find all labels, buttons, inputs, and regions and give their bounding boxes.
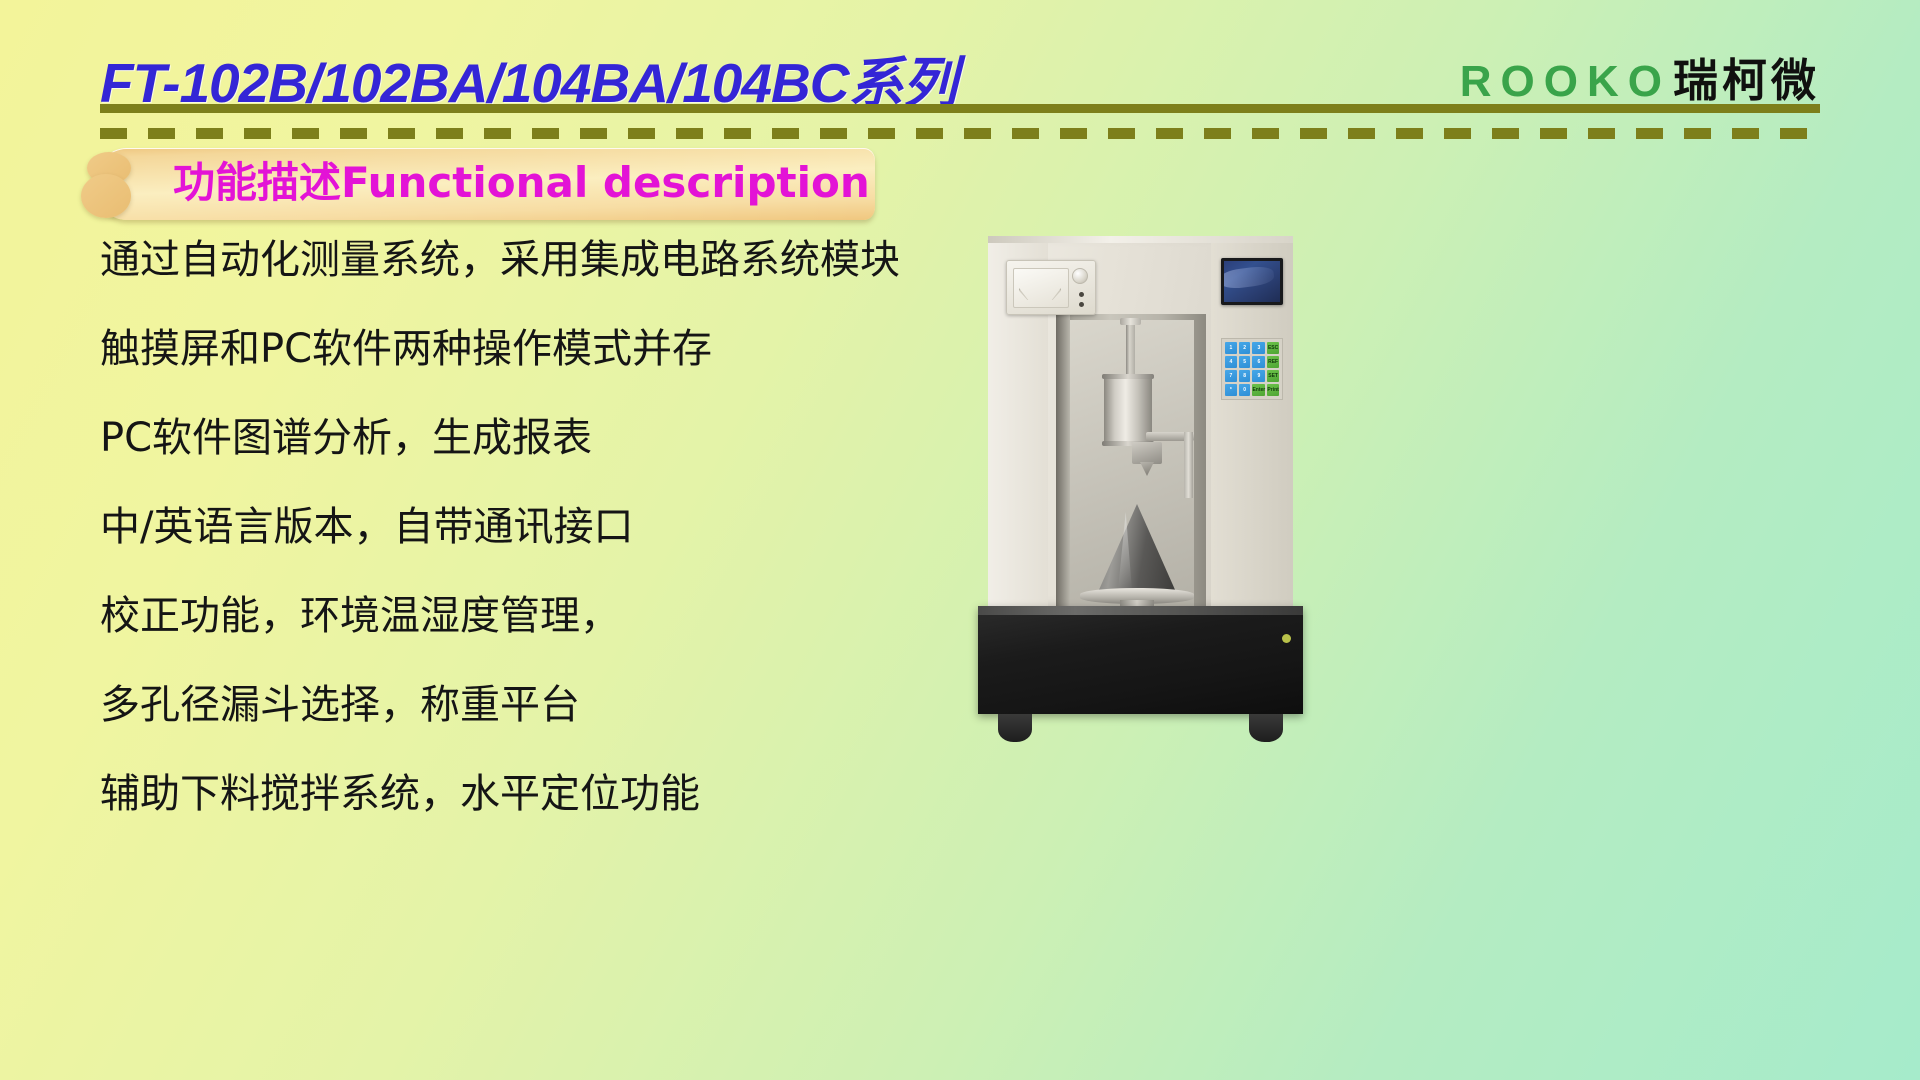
- feature-line: PC软件图谱分析，生成报表: [100, 418, 1000, 458]
- slide-header: FT-102B/102BA/104BA/104BC系列 ROOKO 瑞柯微: [0, 0, 1920, 168]
- cabinet-top-edge: [988, 236, 1293, 243]
- keypad-key-5[interactable]: 5: [1239, 356, 1251, 368]
- feature-line: 多孔径漏斗选择，称重平台: [100, 685, 1000, 725]
- keypad-key-4[interactable]: 4: [1225, 356, 1237, 368]
- funnel-nozzle: [1132, 442, 1162, 464]
- keypad-key-print[interactable]: Print: [1267, 384, 1279, 396]
- section-badge: 功能描述Functional description: [95, 148, 875, 220]
- printer-module: [1006, 260, 1096, 315]
- header-dashed-rule: [100, 128, 1820, 139]
- brand-latin-text: ROOKO: [1460, 57, 1671, 107]
- machine-base: [978, 606, 1303, 714]
- shaft-cap: [1120, 318, 1141, 325]
- printer-knob-icon: [1072, 268, 1088, 284]
- machine-foot: [998, 714, 1032, 742]
- keypad-key-ref[interactable]: REF: [1267, 356, 1279, 368]
- brand-logo: ROOKO 瑞柯微: [1460, 44, 1820, 109]
- machine-base-top: [978, 606, 1303, 615]
- keypad-key-enter[interactable]: Enter: [1252, 384, 1265, 396]
- feature-line: 触摸屏和PC软件两种操作模式并存: [100, 329, 1000, 369]
- keypad-key-0[interactable]: 0: [1239, 384, 1251, 396]
- feature-line: 校正功能，环境温湿度管理，: [100, 596, 1000, 636]
- product-photo: 123ESC456REF789SET*0EnterPrint: [968, 236, 1313, 756]
- keypad-key-8[interactable]: 8: [1239, 370, 1251, 382]
- vertical-shaft: [1126, 320, 1135, 380]
- feature-line: 中/英语言版本，自带通讯接口: [100, 507, 1000, 547]
- lcd-screen: [1224, 261, 1280, 302]
- badge-lobe-bottom-icon: [81, 174, 131, 218]
- keypad-key-esc[interactable]: ESC: [1267, 342, 1279, 354]
- keypad-key-*[interactable]: *: [1225, 384, 1237, 396]
- cabinet-recess-shadow: [1056, 314, 1070, 606]
- keypad-key-9[interactable]: 9: [1252, 370, 1265, 382]
- support-arm-vertical: [1184, 432, 1193, 498]
- lcd-display: [1221, 258, 1283, 305]
- keypad-key-set[interactable]: SET: [1267, 370, 1279, 382]
- lcd-glare: [1224, 265, 1274, 290]
- motor-ring: [1102, 374, 1154, 379]
- feature-line: 通过自动化测量系统，采用集成电路系统模块: [100, 240, 1000, 280]
- control-keypad[interactable]: 123ESC456REF789SET*0EnterPrint: [1221, 338, 1283, 400]
- keypad-key-1[interactable]: 1: [1225, 342, 1237, 354]
- section-badge-label: 功能描述Functional description: [173, 148, 870, 220]
- header-solid-rule: [100, 104, 1820, 113]
- feature-list: 通过自动化测量系统，采用集成电路系统模块 触摸屏和PC软件两种操作模式并存 PC…: [100, 240, 1000, 863]
- feature-line: 辅助下料搅拌系统，水平定位功能: [100, 774, 1000, 814]
- keypad-key-3[interactable]: 3: [1252, 342, 1265, 354]
- base-indicator-icon: [1282, 634, 1291, 643]
- keypad-key-2[interactable]: 2: [1239, 342, 1251, 354]
- printer-led-indicator: [1079, 302, 1084, 307]
- printer-led-indicator: [1079, 292, 1084, 297]
- machine-foot: [1249, 714, 1283, 742]
- keypad-key-7[interactable]: 7: [1225, 370, 1237, 382]
- motor-housing: [1104, 376, 1152, 446]
- printer-paper-slot: [1013, 268, 1069, 308]
- keypad-key-6[interactable]: 6: [1252, 356, 1265, 368]
- brand-chinese-text: 瑞柯微: [1673, 44, 1820, 109]
